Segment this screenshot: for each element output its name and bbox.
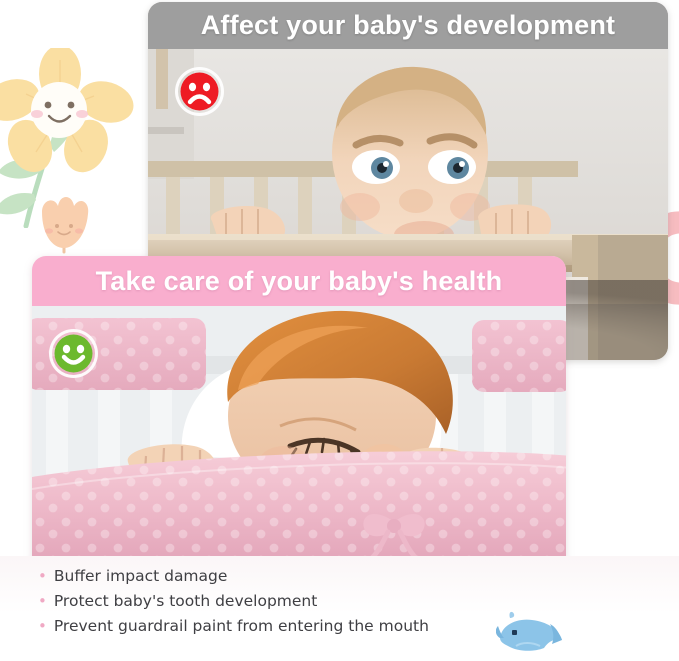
benefit-card-photo [32, 306, 566, 561]
sad-face-icon [178, 70, 221, 113]
bullet-dot-icon: • [38, 564, 47, 588]
tulip-flower-icon [28, 190, 100, 260]
benefit-card-title: Take care of your baby's health [96, 266, 503, 297]
feature-list: • Buffer impact damage • Protect baby's … [38, 564, 468, 639]
smiling-flower-icon [0, 48, 142, 228]
whale-icon [496, 608, 564, 654]
happy-face-icon [52, 332, 95, 375]
list-item: • Protect baby's tooth development [38, 589, 468, 614]
benefit-card: Take care of your baby's health [32, 256, 566, 561]
bullet-dot-icon: • [38, 614, 47, 638]
list-item: • Buffer impact damage [38, 564, 468, 589]
list-item: • Prevent guardrail paint from entering … [38, 614, 468, 639]
benefit-card-banner: Take care of your baby's health [32, 256, 566, 306]
bullet-dot-icon: • [38, 589, 47, 613]
feature-text: Protect baby's tooth development [54, 589, 317, 614]
happy-face-badge [52, 332, 95, 375]
warning-card-title: Affect your baby's development [201, 10, 616, 41]
feature-text: Buffer impact damage [54, 564, 228, 589]
warning-card-banner: Affect your baby's development [148, 2, 668, 49]
infographic-canvas: Affect your baby's development [0, 0, 679, 661]
feature-text: Prevent guardrail paint from entering th… [54, 614, 429, 639]
sad-face-badge [178, 70, 221, 113]
